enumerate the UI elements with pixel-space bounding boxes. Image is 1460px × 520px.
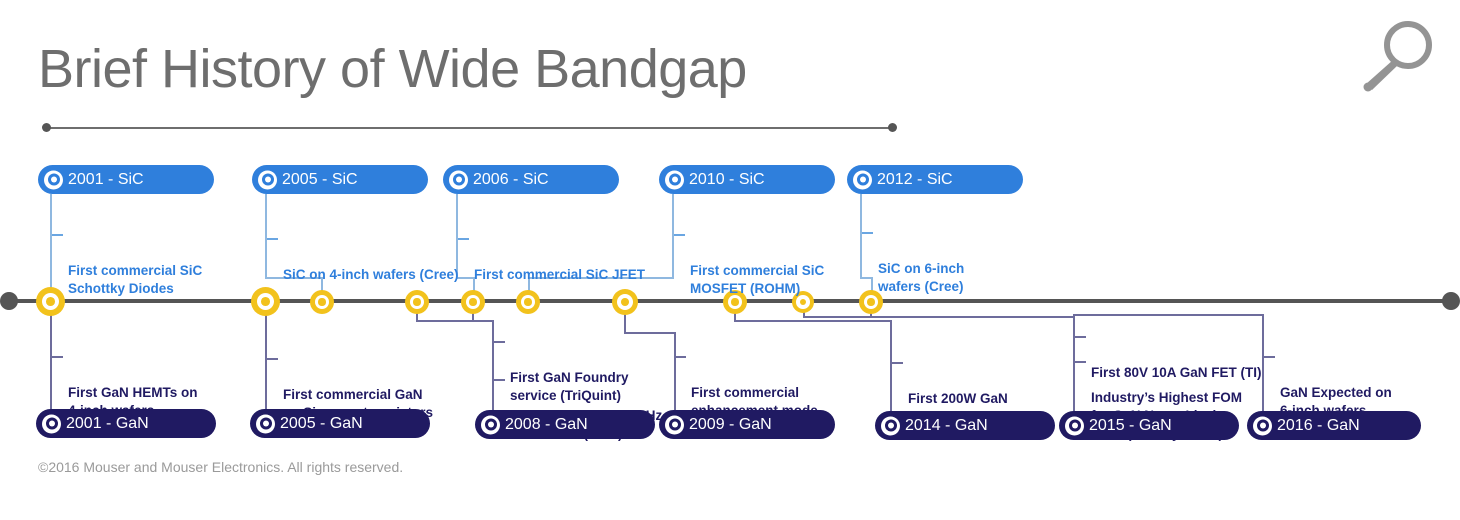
dash-connector-icon	[1264, 356, 1275, 358]
badge-label: 2012 - SiC	[877, 171, 953, 189]
connector-gan-2015-vertical	[1073, 316, 1075, 411]
event-desc-sic-2012: SiC on 6-inch wafers (Cree)	[878, 224, 964, 296]
dash-connector-icon	[674, 234, 685, 236]
bullseye-icon	[665, 415, 684, 434]
timeline-marker-2005[interactable]	[251, 287, 280, 316]
timeline-marker-2009[interactable]	[516, 290, 540, 314]
badge-label: 2014 - GaN	[905, 417, 988, 435]
badge-label: 2001 - GaN	[66, 415, 149, 433]
event-desc-sic-2001: First commercial SiC Schottky Diodes	[68, 226, 202, 298]
badge-label: 2006 - SiC	[473, 171, 549, 189]
bullseye-icon	[881, 416, 900, 435]
copyright-notice: ©2016 Mouser and Mouser Electronics. All…	[38, 459, 403, 475]
connector-gan-2009-vertical	[674, 332, 676, 410]
badge-label: 2015 - GaN	[1089, 417, 1172, 435]
badge-gan-2001[interactable]: 2001 - GaN	[36, 409, 216, 438]
badge-gan-2009[interactable]: 2009 - GaN	[659, 410, 835, 439]
badge-label: 2010 - SiC	[689, 171, 765, 189]
bullseye-icon	[256, 414, 275, 433]
timeline-axis-cap-left	[0, 292, 18, 310]
badge-gan-2015[interactable]: 2015 - GaN	[1059, 411, 1239, 440]
wide-bandgap-timeline-infographic: Brief History of Wide Bandgap	[0, 0, 1460, 520]
badge-label: 2009 - GaN	[689, 416, 772, 434]
badge-label: 2016 - GaN	[1277, 417, 1360, 435]
bullseye-icon	[481, 415, 500, 434]
badge-gan-2008[interactable]: 2008 - GaN	[475, 410, 655, 439]
title-divider-cap-left	[42, 123, 51, 132]
connector-sic-2010-vertical	[672, 194, 674, 279]
bullseye-icon	[1253, 416, 1272, 435]
event-desc-text: First commercial SiC Schottky Diodes	[68, 263, 202, 296]
badge-sic-2005[interactable]: 2005 - SiC	[252, 165, 428, 194]
badge-label: 2005 - SiC	[282, 171, 358, 189]
timeline-marker-2010[interactable]	[612, 289, 638, 315]
dash-connector-icon	[494, 341, 505, 343]
connector-gan-2008-horizontal	[416, 320, 494, 322]
event-desc-text: SiC on 6-inch wafers (Cree)	[878, 261, 964, 294]
badge-gan-2014[interactable]: 2014 - GaN	[875, 411, 1055, 440]
event-desc-sic-2010: First commercial SiC MOSFET (ROHM)	[690, 226, 824, 298]
connector-sic-2001	[50, 194, 52, 298]
timeline-marker-2006[interactable]	[310, 290, 334, 314]
connector-gan-2008-vertical	[492, 320, 494, 410]
dash-connector-icon	[892, 362, 903, 364]
event-desc-sic-2006: First commercial SiC JFET	[474, 230, 645, 284]
connector-gan-2016-vertical	[1262, 314, 1264, 411]
badge-gan-2016[interactable]: 2016 - GaN	[1247, 411, 1421, 440]
connector-sic-2005-vertical	[265, 194, 267, 279]
magnifier-icon[interactable]	[1356, 18, 1440, 96]
badge-label: 2001 - SiC	[68, 171, 144, 189]
bullseye-icon	[665, 170, 684, 189]
bullseye-icon	[258, 170, 277, 189]
connector-gan-2016-horizontal	[1073, 314, 1264, 316]
connector-gan-2014-vertical	[890, 320, 892, 411]
dash-connector-icon	[494, 379, 505, 381]
badge-sic-2010[interactable]: 2010 - SiC	[659, 165, 835, 194]
timeline-marker-2007[interactable]	[405, 290, 429, 314]
connector-gan-2009-horizontal	[624, 332, 676, 334]
connector-gan-2015-horizontal-a	[803, 316, 1075, 318]
dash-connector-icon	[52, 234, 63, 236]
timeline-axis-cap-right	[1442, 292, 1460, 310]
badge-sic-2006[interactable]: 2006 - SiC	[443, 165, 619, 194]
badge-label: 2005 - GaN	[280, 415, 363, 433]
connector-gan-2005	[265, 304, 267, 409]
event-desc-sic-2005: SiC on 4-inch wafers (Cree)	[283, 230, 459, 284]
connector-sic-2012-vertical	[860, 194, 862, 277]
timeline-marker-2008[interactable]	[461, 290, 485, 314]
event-desc-text: First commercial SiC JFET	[474, 267, 645, 282]
title-divider-cap-right	[888, 123, 897, 132]
bullseye-icon	[449, 170, 468, 189]
event-desc-gan-2016: GaN Expected on 6-inch wafers	[1280, 348, 1392, 420]
badge-label: 2008 - GaN	[505, 416, 588, 434]
bullseye-icon	[42, 414, 61, 433]
event-desc-text: SiC on 4-inch wafers (Cree)	[283, 267, 459, 282]
badge-sic-2012[interactable]: 2012 - SiC	[847, 165, 1023, 194]
dash-connector-icon	[1075, 361, 1086, 363]
page-title: Brief History of Wide Bandgap	[38, 42, 747, 96]
dash-connector-icon	[1075, 336, 1086, 338]
badge-sic-2001[interactable]: 2001 - SiC	[38, 165, 214, 194]
bullseye-icon	[1065, 416, 1084, 435]
dash-connector-icon	[862, 232, 873, 234]
connector-gan-2014-horizontal	[734, 320, 892, 322]
dash-connector-icon	[675, 356, 686, 358]
timeline-marker-2001[interactable]	[36, 287, 65, 316]
dash-connector-icon	[52, 356, 63, 358]
bullseye-icon	[853, 170, 872, 189]
dash-connector-icon	[267, 358, 278, 360]
badge-gan-2005[interactable]: 2005 - GaN	[250, 409, 430, 438]
title-divider	[44, 127, 896, 129]
bullseye-icon	[44, 170, 63, 189]
dash-connector-icon	[267, 238, 278, 240]
dash-connector-icon	[458, 238, 469, 240]
event-desc-text: First commercial SiC MOSFET (ROHM)	[690, 263, 824, 296]
